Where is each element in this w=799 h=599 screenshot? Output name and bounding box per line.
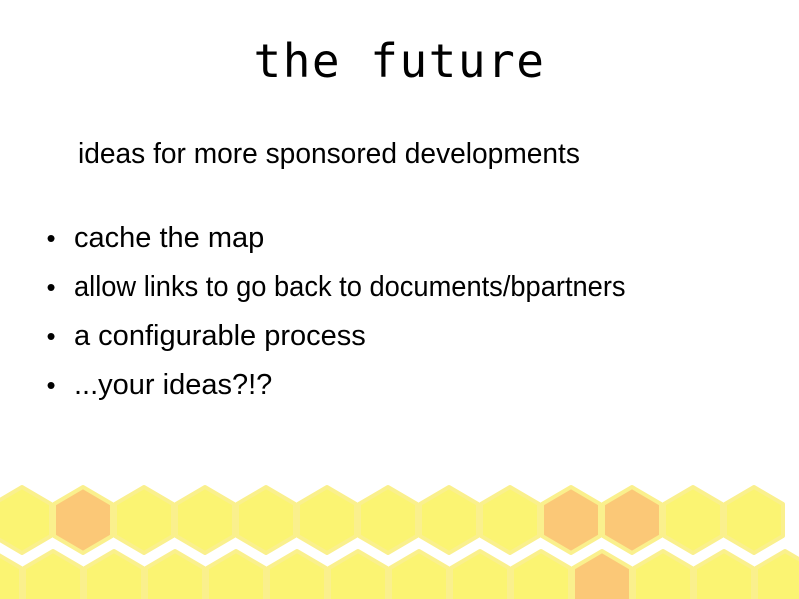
honeycomb-top-cell — [359, 487, 417, 553]
list-item: •cache the map — [40, 214, 770, 263]
honeycomb-bottom-cell — [329, 551, 387, 599]
honeycomb-top-cell — [542, 487, 600, 553]
honeycomb-bottom-cell — [0, 551, 21, 599]
bullet-dot-icon: • — [44, 361, 58, 410]
list-item-label: allow links to go back to documents/bpar… — [74, 263, 626, 312]
page-title: the future — [0, 36, 799, 87]
honeycomb-top-cell — [420, 487, 478, 553]
honeycomb-bottom-cell — [146, 551, 204, 599]
list-item-label: a configurable process — [74, 312, 366, 361]
honeycomb-bottom-cell — [634, 551, 692, 599]
honeycomb-bottom-cell — [268, 551, 326, 599]
honeycomb-svg — [0, 474, 799, 599]
bullet-dot-icon: • — [44, 263, 58, 312]
bullet-list: •cache the map•allow links to go back to… — [40, 214, 770, 410]
honeycomb-top-cell — [115, 487, 173, 553]
bullet-dot-icon: • — [44, 312, 58, 361]
honeycomb-bottom-cell — [512, 551, 570, 599]
honeycomb-bottom-cell — [85, 551, 143, 599]
honeycomb-bottom-cell — [390, 551, 448, 599]
list-item-label: ...your ideas?!? — [74, 361, 272, 410]
presentation-slide: the future ideas for more sponsored deve… — [0, 0, 799, 599]
honeycomb-bottom-cell — [695, 551, 753, 599]
honeycomb-top-cell — [54, 487, 112, 553]
honeycomb-top-cell — [481, 487, 539, 553]
honeycomb-bottom-cell — [207, 551, 265, 599]
slide-subtitle: ideas for more sponsored developments — [78, 138, 580, 171]
list-item: •allow links to go back to documents/bpa… — [40, 263, 770, 312]
bullet-dot-icon: • — [44, 214, 58, 263]
list-item: •a configurable process — [40, 312, 770, 361]
honeycomb-top-cell — [298, 487, 356, 553]
honeycomb-top-cell — [176, 487, 234, 553]
honeycomb-top-cell — [725, 487, 783, 553]
honeycomb-bottom-cell — [573, 551, 631, 599]
list-item: •...your ideas?!? — [40, 361, 770, 410]
honeycomb-bottom-cell — [451, 551, 509, 599]
list-item-label: cache the map — [74, 214, 264, 263]
honeycomb-top-cell — [0, 487, 51, 553]
honeycomb-bottom-cell — [756, 551, 799, 599]
honeycomb-top-cell — [664, 487, 722, 553]
honeycomb-bottom-cell — [24, 551, 82, 599]
honeycomb-decoration — [0, 474, 799, 599]
honeycomb-top-cell — [237, 487, 295, 553]
honeycomb-top-cell — [603, 487, 661, 553]
